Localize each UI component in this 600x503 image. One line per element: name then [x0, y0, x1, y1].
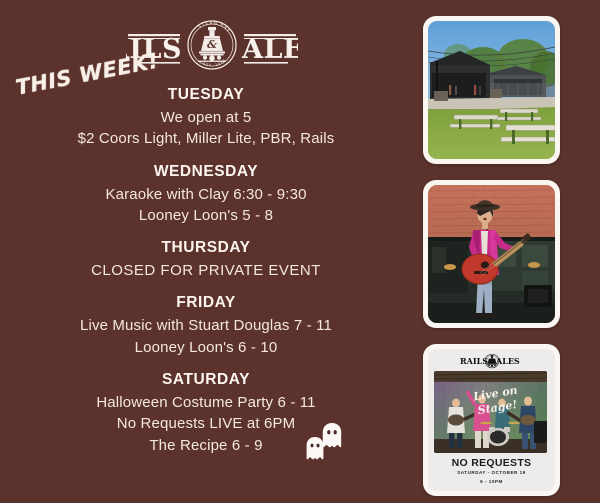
day-detail-line: $2 Coors Light, Miller Lite, PBR, Rails [0, 128, 412, 149]
weekly-schedule-poster: STEAM BREWED EST. 2017 & RA [0, 0, 600, 503]
day-detail-line: No Requests LIVE at 6PM [0, 413, 412, 434]
logo-text-ales: ALES [241, 34, 298, 65]
flyer-logo-rails: RAILS [460, 356, 488, 366]
day-detail-line: Looney Loon's 5 - 8 [0, 205, 412, 226]
day-detail-line: CLOSED FOR PRIVATE EVENT [0, 260, 412, 281]
no-requests-flyer: RAILS ALES [428, 349, 555, 491]
schedule-day-saturday: SATURDAY Halloween Costume Party 6 - 11 … [0, 371, 412, 456]
day-detail-line: The Recipe 6 - 9 [0, 435, 412, 456]
photo-card-flyer: RAILS ALES [423, 344, 560, 496]
flyer-date: SATURDAY - OCTOBER 19 [428, 470, 555, 475]
schedule-day-thursday: THURSDAY CLOSED FOR PRIVATE EVENT [0, 239, 412, 281]
band-stage-artwork: Live on Stage! [434, 371, 547, 453]
day-heading: THURSDAY [0, 239, 412, 257]
flyer-time: 6 - 10PM [428, 479, 555, 484]
musician-photo [428, 185, 555, 323]
ampersand: & [207, 38, 217, 51]
schedule-day-wednesday: WEDNESDAY Karaoke with Clay 6:30 - 9:30 … [0, 163, 412, 227]
day-detail-line: We open at 5 [0, 107, 412, 128]
day-heading: SATURDAY [0, 371, 412, 389]
flyer-band-photo: Live on Stage! [434, 371, 547, 453]
svg-text:STEAM BREWED: STEAM BREWED [126, 18, 232, 34]
schedule-day-friday: FRIDAY Live Music with Stuart Douglas 7 … [0, 294, 412, 358]
day-detail-line: Live Music with Stuart Douglas 7 - 11 [0, 315, 412, 336]
flyer-band-name: NO REQUESTS [428, 457, 555, 469]
day-heading: FRIDAY [0, 294, 412, 312]
day-heading: WEDNESDAY [0, 163, 412, 181]
schedule-day-tuesday: TUESDAY We open at 5 $2 Coors Light, Mil… [0, 86, 412, 150]
photo-card-musician [423, 180, 560, 328]
badge-top-text: STEAM BREWED [126, 18, 232, 34]
day-detail-line: Looney Loon's 6 - 10 [0, 337, 412, 358]
photo-card-patio [423, 16, 560, 164]
photo-frame: RAILS ALES [428, 349, 555, 491]
flyer-logo: RAILS ALES [456, 353, 528, 369]
schedule-list: TUESDAY We open at 5 $2 Coors Light, Mil… [0, 86, 412, 469]
photo-frame [428, 185, 555, 323]
photo-frame [428, 21, 555, 159]
patio-photo [428, 21, 555, 159]
day-detail-line: Halloween Costume Party 6 - 11 [0, 392, 412, 413]
day-detail-line: Karaoke with Clay 6:30 - 9:30 [0, 184, 412, 205]
flyer-logo-ales: ALES [495, 356, 520, 366]
day-heading: TUESDAY [0, 86, 412, 104]
